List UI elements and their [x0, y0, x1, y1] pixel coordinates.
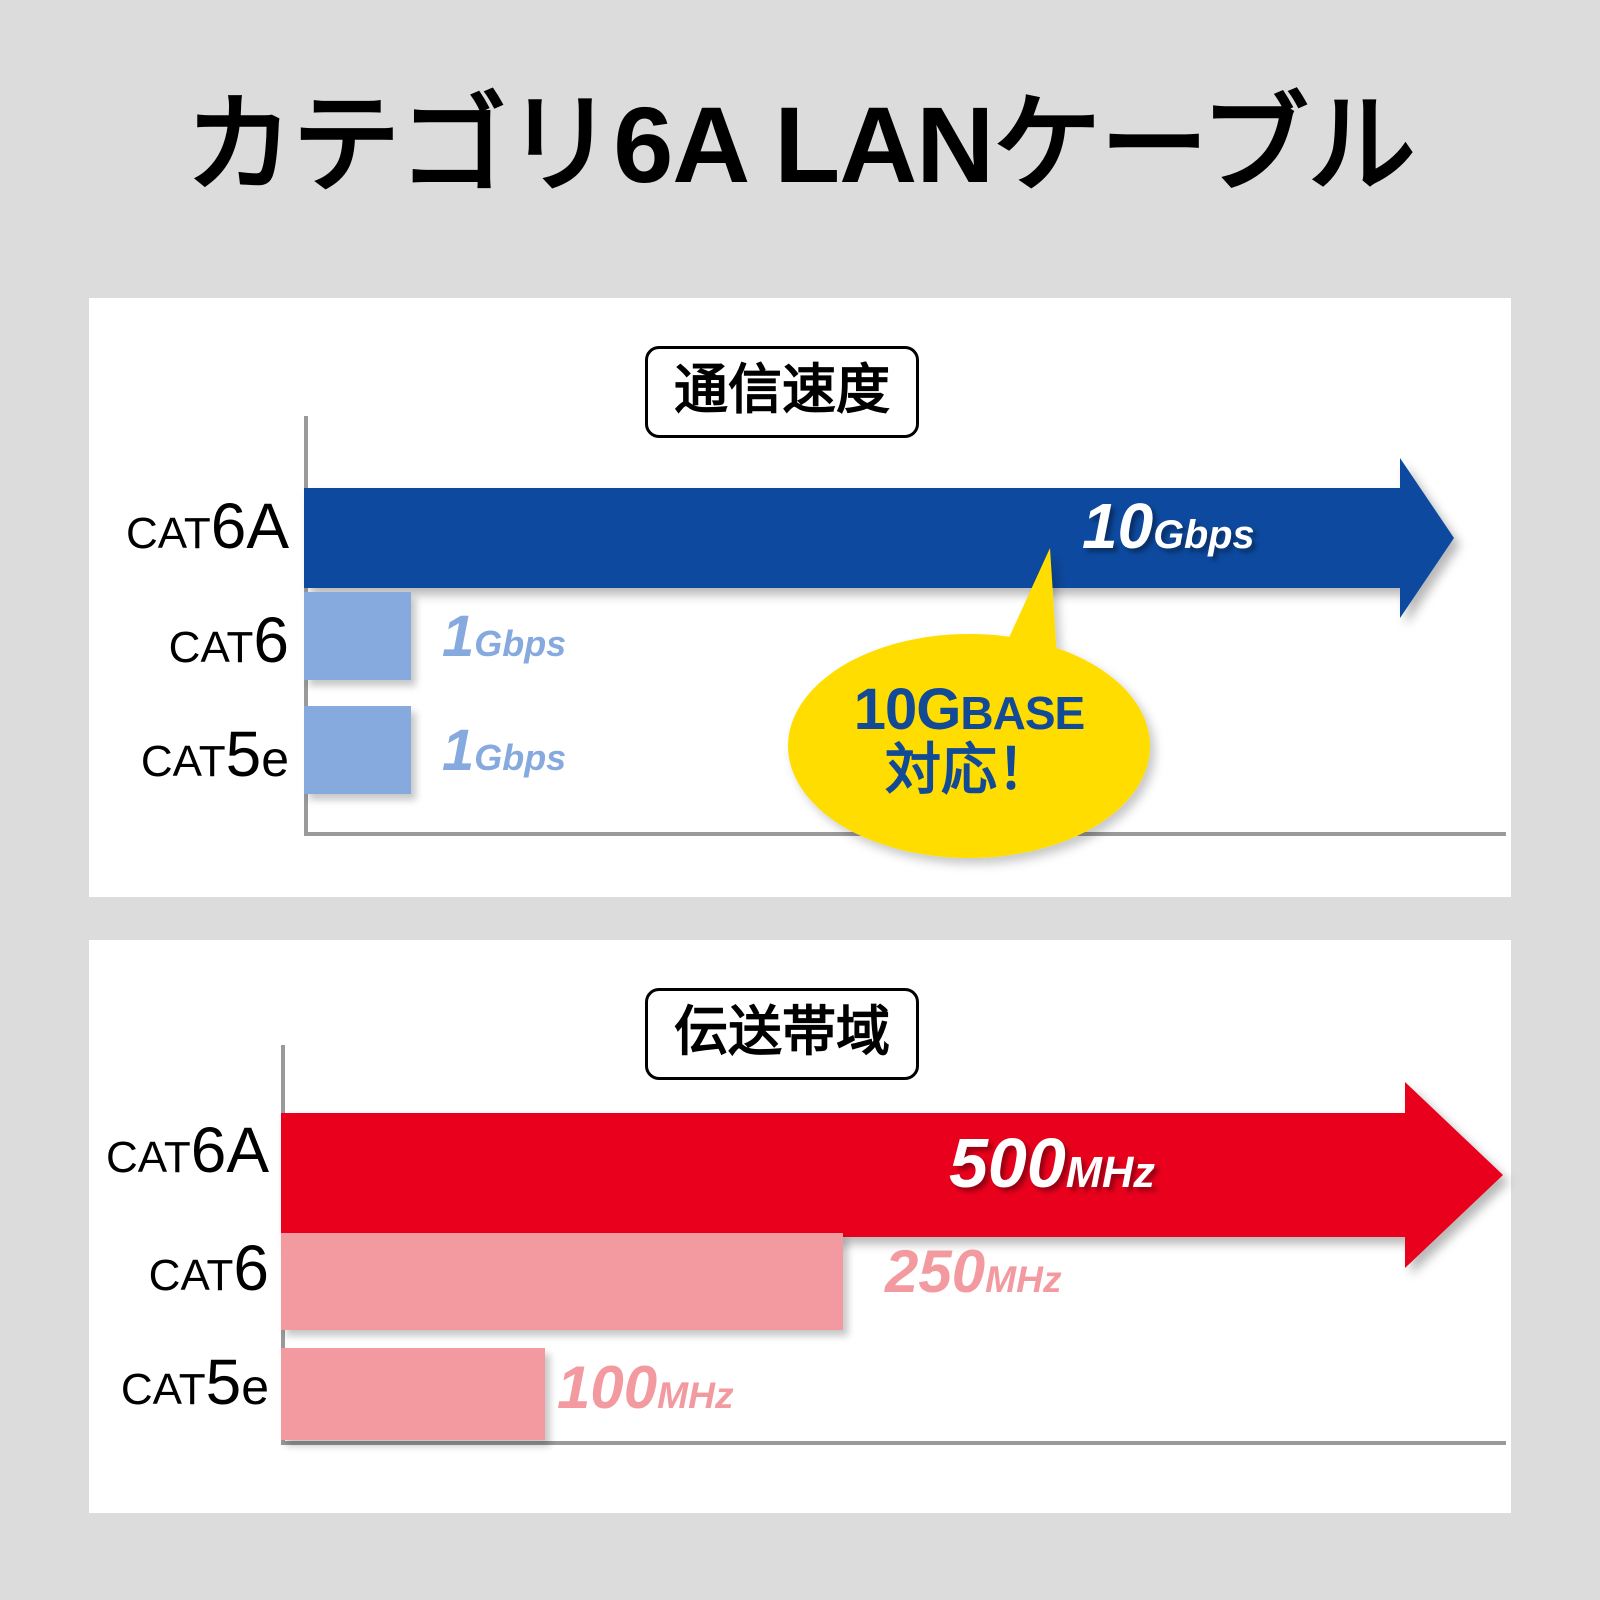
callout-10g: 10G — [854, 677, 961, 742]
cat-main: 6 — [233, 1232, 269, 1304]
callout-bubble-10gbase: 10GBASE 対応！ — [788, 628, 1150, 858]
value-label-cat5e-bandwidth: 100MHz — [557, 1358, 734, 1418]
value-unit: Gbps — [474, 737, 566, 778]
value-number: 10 — [1082, 490, 1153, 562]
value-number: 500 — [949, 1124, 1066, 1202]
category-label-cat6-bandwidth: CAT6 — [89, 1236, 269, 1300]
category-label-cat6-speed: CAT6 — [109, 608, 289, 672]
value-number: 250 — [885, 1238, 985, 1305]
value-unit: MHz — [657, 1374, 733, 1416]
panel-caption-speed: 通信速度 — [645, 346, 919, 438]
value-unit: Gbps — [1153, 513, 1254, 557]
cat-main: 5 — [226, 718, 262, 790]
value-unit: MHz — [985, 1258, 1061, 1300]
value-label-cat6-speed: 1Gbps — [442, 608, 566, 666]
cat-prefix: CAT — [106, 1133, 191, 1182]
category-label-cat5e-bandwidth: CAT5e — [89, 1350, 269, 1414]
category-label-cat6a-bandwidth: CAT6A — [89, 1118, 269, 1182]
cat-main: 6 — [253, 604, 289, 676]
bar-cat6-speed — [304, 592, 411, 680]
page-title: カテゴリ6A LANケーブル — [0, 86, 1600, 205]
cat-prefix: CAT — [126, 509, 211, 558]
bar-cat5e-bandwidth — [281, 1348, 545, 1440]
bar-cat6-bandwidth — [281, 1233, 843, 1330]
x-axis-bandwidth — [281, 1441, 1506, 1445]
value-label-cat6a-speed: 10Gbps — [1082, 494, 1255, 558]
value-label-cat5e-speed: 1Gbps — [442, 722, 566, 780]
callout-base: BASE — [960, 687, 1084, 739]
cat-main: 6A — [191, 1114, 269, 1186]
cat-prefix: CAT — [169, 623, 254, 672]
cat-main: 6A — [211, 490, 289, 562]
panel-caption-bandwidth: 伝送帯域 — [645, 988, 919, 1080]
cat-suffix: e — [241, 1359, 269, 1415]
cat-prefix: CAT — [121, 1365, 206, 1414]
cat-main: 5 — [206, 1346, 242, 1418]
value-unit: Gbps — [474, 623, 566, 664]
cat-prefix: CAT — [149, 1251, 234, 1300]
cat-prefix: CAT — [141, 737, 226, 786]
cat-suffix: e — [261, 731, 289, 787]
callout-line-2: 対応！ — [788, 741, 1150, 800]
bar-cat5e-speed — [304, 706, 411, 794]
panel-transmission-bandwidth: 伝送帯域 CAT6A CAT6 CAT5e 500MHz 250MHz 100M… — [89, 940, 1511, 1513]
callout-text-block: 10GBASE 対応！ — [788, 680, 1150, 800]
value-label-cat6a-bandwidth: 500MHz — [949, 1128, 1155, 1198]
category-label-cat6a-speed: CAT6A — [109, 494, 289, 558]
value-number: 1 — [442, 604, 474, 669]
value-unit: MHz — [1066, 1149, 1155, 1197]
bar-arrow-cat6a-speed — [304, 458, 1454, 618]
value-number: 1 — [442, 718, 474, 783]
value-label-cat6-bandwidth: 250MHz — [885, 1242, 1062, 1302]
value-number: 100 — [557, 1354, 657, 1421]
category-label-cat5e-speed: CAT5e — [109, 722, 289, 786]
callout-line-1: 10GBASE — [788, 680, 1150, 741]
